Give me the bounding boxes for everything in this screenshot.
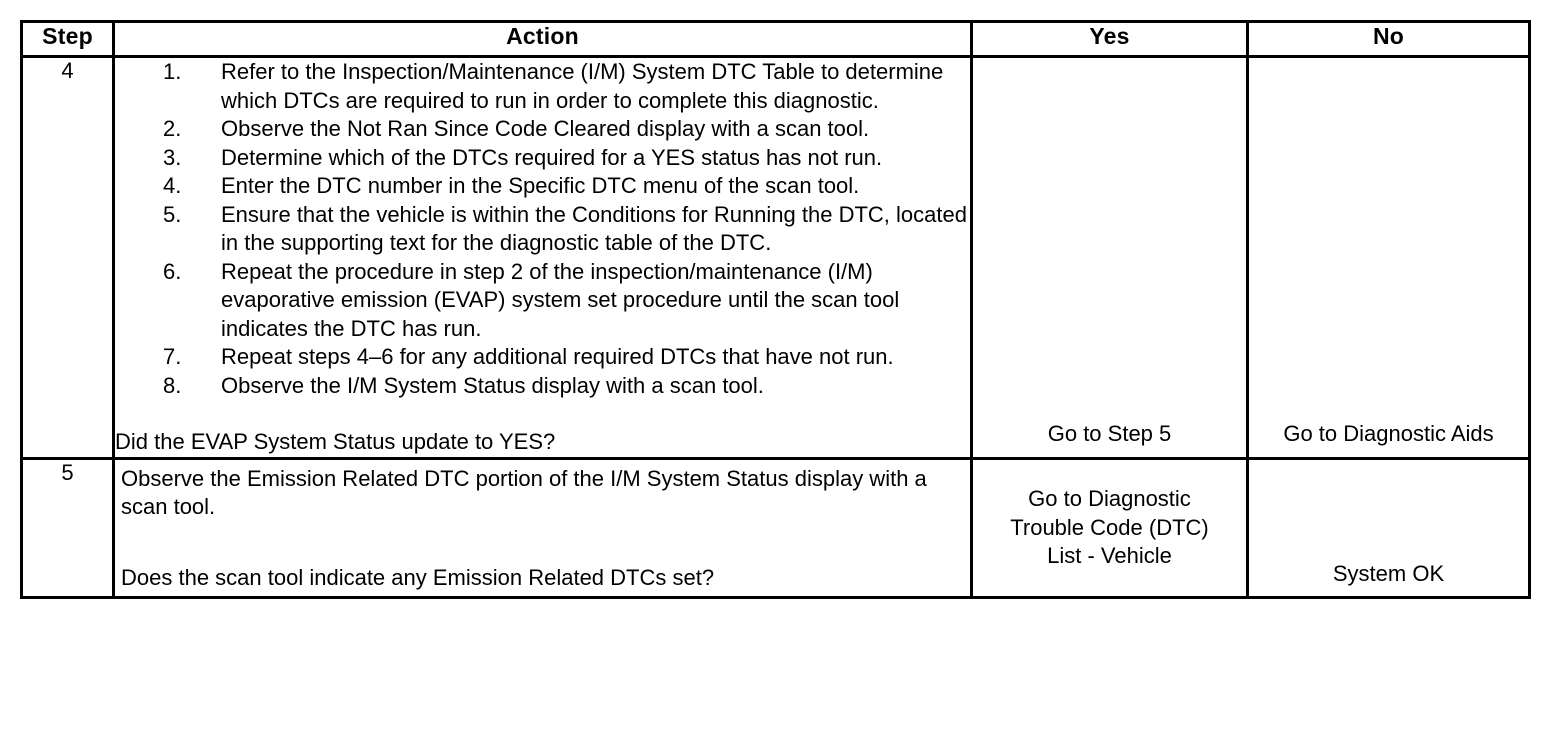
- column-header-step: Step: [22, 22, 114, 57]
- document-page: Step Action Yes No 4 1. Refer to the Ins…: [0, 0, 1568, 752]
- list-item-number: 6.: [163, 258, 203, 287]
- table-row: 4 1. Refer to the Inspection/Maintenance…: [22, 57, 1530, 459]
- list-item-text: Repeat steps 4–6 for any additional requ…: [221, 343, 970, 372]
- table-header-row: Step Action Yes No: [22, 22, 1530, 57]
- action-content: Observe the Emission Related DTC portion…: [114, 458, 972, 598]
- step-number: 5: [22, 458, 114, 598]
- step-number: 4: [22, 57, 114, 459]
- list-item-number: 2.: [163, 115, 203, 144]
- list-item: 3. Determine which of the DTCs required …: [115, 144, 970, 173]
- action-step-list: 1. Refer to the Inspection/Maintenance (…: [115, 58, 970, 400]
- list-item: 8. Observe the I/M System Status display…: [115, 372, 970, 401]
- no-result: System OK: [1248, 458, 1530, 598]
- list-item: 2. Observe the Not Ran Since Code Cleare…: [115, 115, 970, 144]
- list-item: 5. Ensure that the vehicle is within the…: [115, 201, 970, 258]
- list-item: 4. Enter the DTC number in the Specific …: [115, 172, 970, 201]
- column-header-no: No: [1248, 22, 1530, 57]
- list-item-text: Refer to the Inspection/Maintenance (I/M…: [221, 58, 970, 115]
- list-item-number: 1.: [163, 58, 203, 87]
- table-row: 5 Observe the Emission Related DTC porti…: [22, 458, 1530, 598]
- column-header-yes: Yes: [972, 22, 1248, 57]
- no-result: Go to Diagnostic Aids: [1248, 57, 1530, 459]
- list-item: 6. Repeat the procedure in step 2 of the…: [115, 258, 970, 344]
- result-line: Go to Diagnostic Aids: [1249, 420, 1528, 449]
- yes-result: Go to Step 5: [972, 57, 1248, 459]
- list-item-number: 8.: [163, 372, 203, 401]
- list-item-text: Ensure that the vehicle is within the Co…: [221, 201, 970, 258]
- result-line: Go to Step 5: [973, 420, 1246, 449]
- column-header-action: Action: [114, 22, 972, 57]
- yes-result-lines: Go to Diagnostic Trouble Code (DTC) List…: [973, 485, 1246, 571]
- list-item-text: Enter the DTC number in the Specific DTC…: [221, 172, 970, 201]
- yes-result: Go to Diagnostic Trouble Code (DTC) List…: [972, 458, 1248, 598]
- action-content: 1. Refer to the Inspection/Maintenance (…: [114, 57, 972, 459]
- yes-result-lines: Go to Step 5: [973, 420, 1246, 449]
- result-line: List - Vehicle: [973, 542, 1246, 571]
- list-item-text: Observe the I/M System Status display wi…: [221, 372, 970, 401]
- list-item: 7. Repeat steps 4–6 for any additional r…: [115, 343, 970, 372]
- no-result-lines: System OK: [1249, 560, 1528, 589]
- list-item-number: 3.: [163, 144, 203, 173]
- action-question: Does the scan tool indicate any Emission…: [121, 564, 964, 593]
- action-question: Did the EVAP System Status update to YES…: [115, 428, 970, 457]
- action-instruction: Observe the Emission Related DTC portion…: [121, 465, 964, 522]
- result-line: System OK: [1249, 560, 1528, 589]
- no-result-lines: Go to Diagnostic Aids: [1249, 420, 1528, 449]
- spacer: [121, 522, 964, 564]
- list-item-text: Observe the Not Ran Since Code Cleared d…: [221, 115, 970, 144]
- result-line: Go to Diagnostic: [973, 485, 1246, 514]
- list-item-text: Repeat the procedure in step 2 of the in…: [221, 258, 970, 344]
- list-item-number: 7.: [163, 343, 203, 372]
- result-line: Trouble Code (DTC): [973, 514, 1246, 543]
- list-item-number: 4.: [163, 172, 203, 201]
- list-item-text: Determine which of the DTCs required for…: [221, 144, 970, 173]
- list-item-number: 5.: [163, 201, 203, 230]
- list-item: 1. Refer to the Inspection/Maintenance (…: [115, 58, 970, 115]
- diagnostic-procedure-table: Step Action Yes No 4 1. Refer to the Ins…: [20, 20, 1531, 599]
- spacer: [115, 400, 970, 428]
